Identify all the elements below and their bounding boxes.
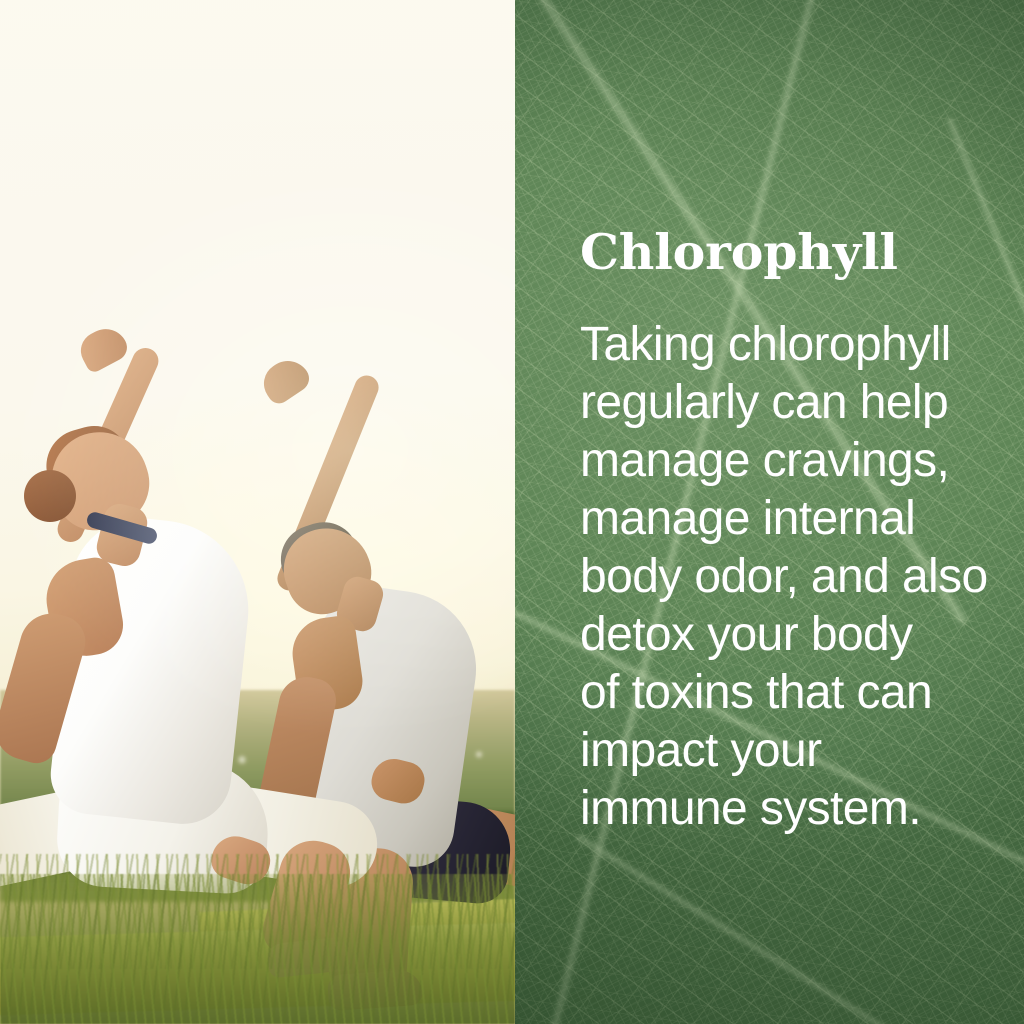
panel-text-block: Chlorophyll Taking chlorophyll regularly… [580,0,1010,1024]
panel-body-text: Taking chlorophyll regularly can help ma… [580,316,1020,838]
woman-hair-bun [24,470,76,522]
body-line: body odor, and also [580,548,1020,606]
chlorophyll-info-panel: Chlorophyll Taking chlorophyll regularly… [515,0,1024,1024]
grass-foreground [0,874,515,1024]
body-line: detox your body [580,606,1020,664]
woman-tank-top [47,511,257,828]
body-line: regularly can help [580,374,1020,432]
body-line: manage internal [580,490,1020,548]
panel-title: Chlorophyll [580,228,898,277]
body-line: impact your [580,722,1020,780]
body-line: of toxins that can [580,664,1020,722]
body-line: Taking chlorophyll [580,316,1020,374]
product-infographic-canvas: Chlorophyll Taking chlorophyll regularly… [0,0,1024,1024]
body-line: manage cravings, [580,432,1020,490]
body-line: immune system. [580,780,1020,838]
yoga-sunset-photo [0,0,515,1024]
